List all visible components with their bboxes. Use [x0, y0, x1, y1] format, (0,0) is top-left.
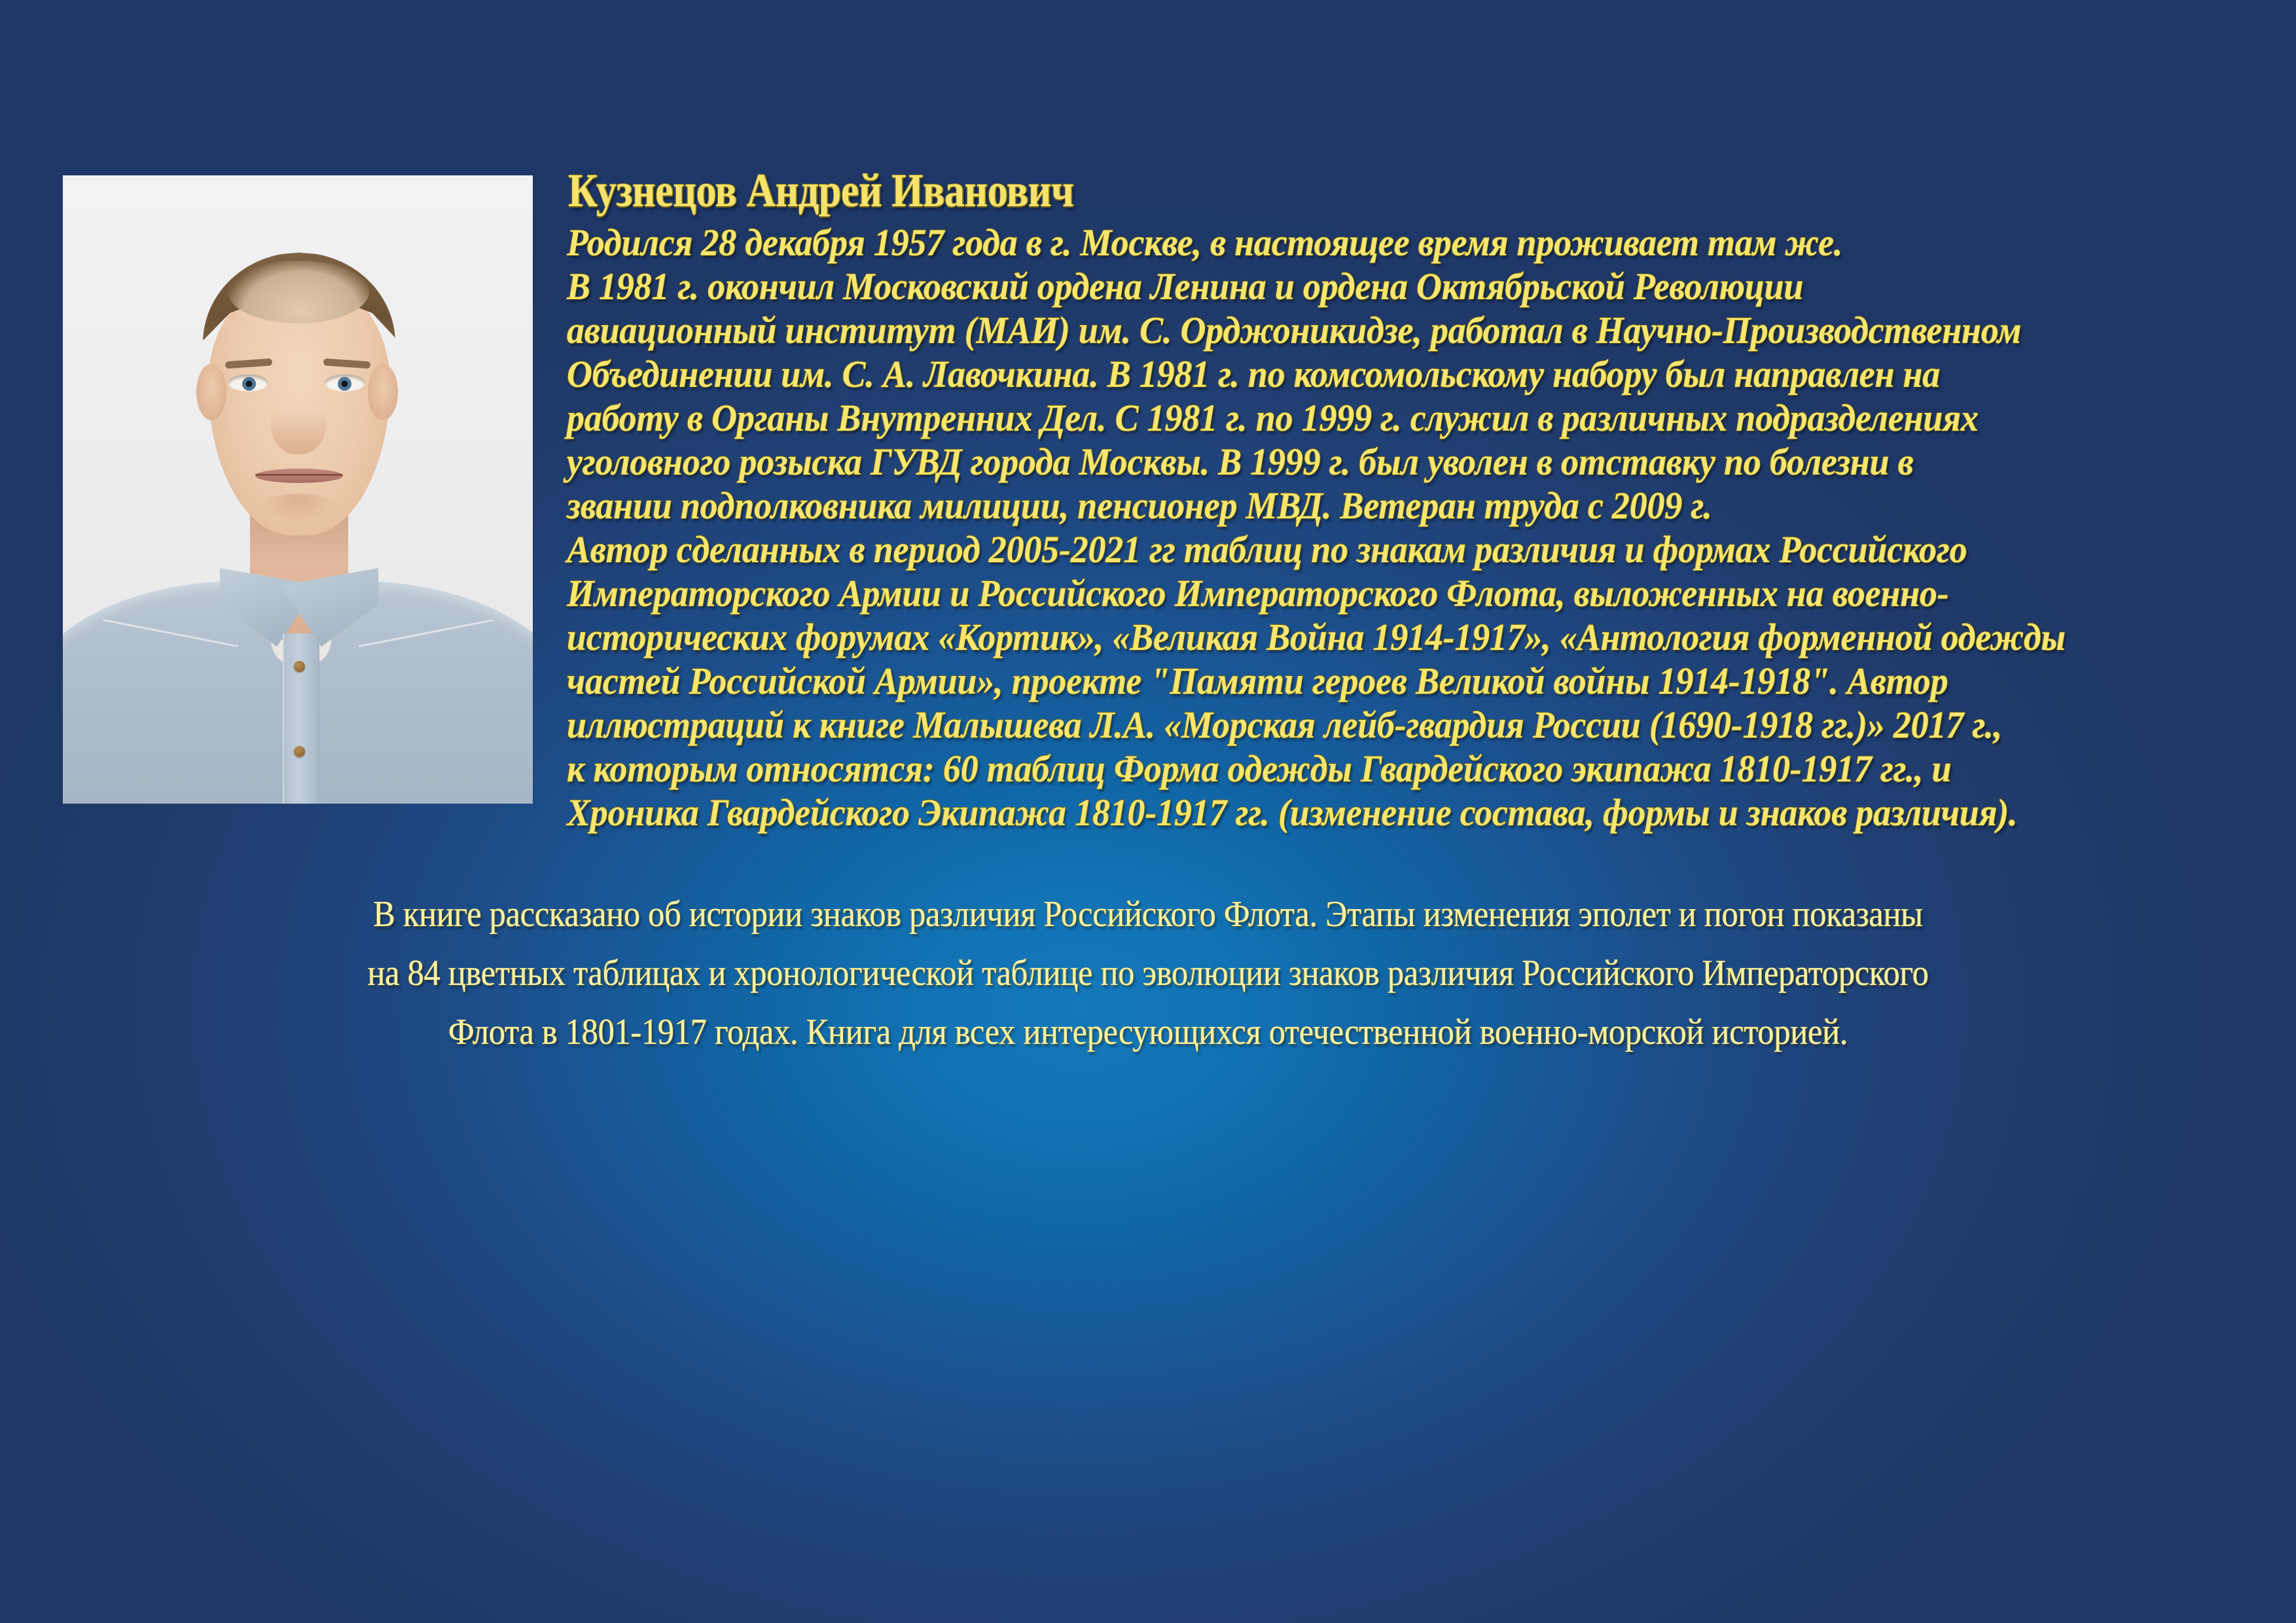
blurb-line: Флота в 1801-1917 годах. Книга для всех … [115, 1003, 2181, 1061]
mouth [255, 469, 343, 483]
shirt-placket [283, 633, 319, 804]
bio-line: работу в Органы Внутренних Дел. С 1981 г… [567, 396, 2149, 440]
bio-line: иллюстраций к книге Малышева Л.А. «Морск… [567, 703, 2149, 747]
forehead-highlight [228, 260, 369, 323]
bio-line: звании подполковника милиции, пенсионер … [567, 484, 2149, 527]
iris-left [242, 377, 256, 391]
bio-line: авиационный институт (МАИ) им. С. Орджон… [567, 308, 2149, 352]
bio-line: В 1981 г. окончил Московский ордена Лени… [567, 264, 2149, 308]
blurb-line: на 84 цветных таблицах и хронологической… [115, 944, 2181, 1003]
book-description: В книге рассказано об истории знаков раз… [0, 885, 2296, 1061]
author-biography: Родился 28 декабря 1957 года в г. Москве… [567, 221, 2269, 834]
bio-line: к которым относятся: 60 таблиц Форма оде… [567, 747, 2149, 791]
shirt-button-upper [294, 661, 305, 672]
iris-right [338, 377, 351, 391]
shirt-button-lower [294, 746, 305, 757]
ear-right [368, 364, 398, 420]
author-portrait-photo [63, 175, 533, 804]
author-name-heading: Кузнецов Андрей Иванович [568, 164, 1074, 218]
bio-line: Объединении им. С. А. Лавочкина. В 1981 … [567, 352, 2149, 396]
bio-line: частей Российской Армии», проекте "Памят… [567, 659, 2149, 703]
bio-line: исторических форумах «Кортик», «Великая … [567, 615, 2149, 659]
bio-line: Автор сделанных в период 2005-2021 гг та… [567, 527, 2149, 571]
bio-line: Родился 28 декабря 1957 года в г. Москве… [567, 221, 2149, 264]
nose [271, 391, 326, 454]
slide-root: Кузнецов Андрей Иванович Родился 28 дека… [0, 0, 2296, 1623]
ear-left [196, 364, 226, 420]
blurb-line: В книге рассказано об истории знаков раз… [115, 885, 2181, 944]
bio-line: Хроника Гвардейского Экипажа 1810-1917 г… [567, 791, 2149, 834]
lip-line [255, 474, 343, 476]
bio-line: Императорского Армии и Российского Импер… [567, 571, 2149, 615]
bio-line: уголовного розыска ГУВД города Москвы. В… [567, 440, 2149, 484]
chin [259, 493, 338, 524]
